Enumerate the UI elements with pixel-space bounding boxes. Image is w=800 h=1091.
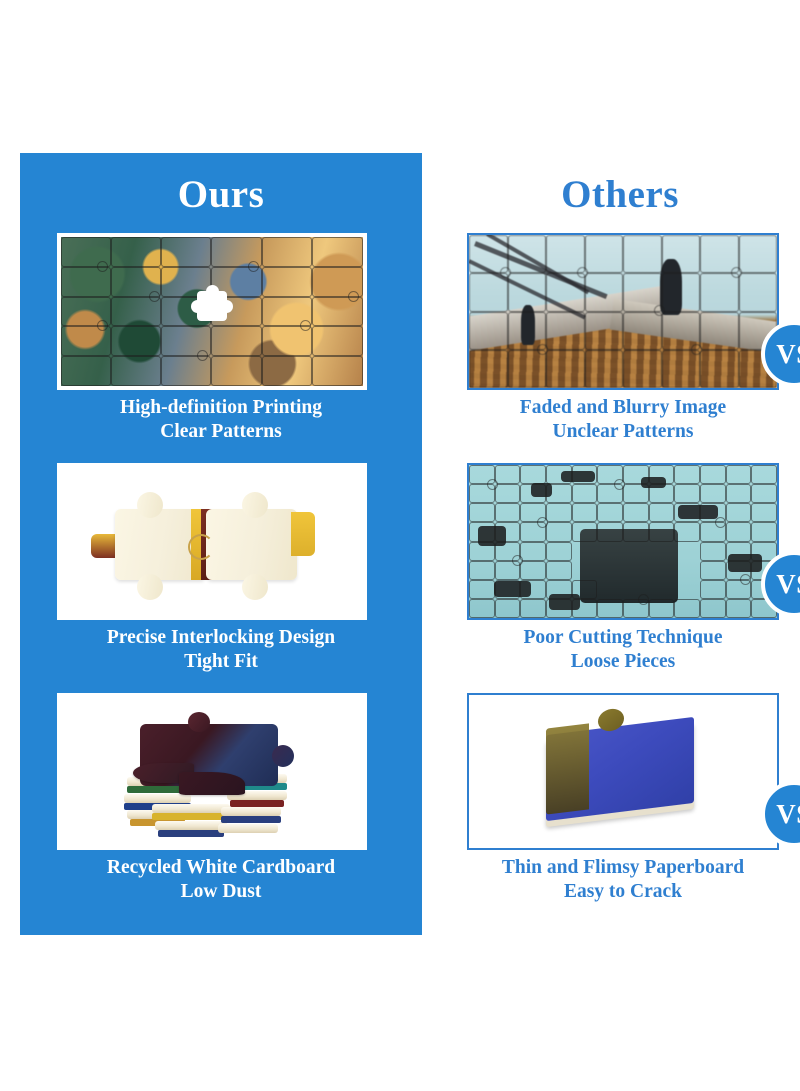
faded-puzzle-artwork: [469, 235, 777, 388]
interlock-hook: [188, 534, 214, 560]
caption-line: Precise Interlocking Design: [20, 626, 422, 650]
vs-panel-fill: [377, 271, 422, 351]
others-header: Others: [455, 172, 785, 217]
vs-panel-fill: [377, 501, 422, 581]
jigsaw-grid-overlay: [469, 235, 777, 388]
caption-line: Faded and Blurry Image: [455, 396, 791, 420]
others-caption-2: Poor Cutting Technique Loose Pieces: [455, 626, 791, 674]
top-piece-knob: [188, 712, 210, 732]
caption-line: Unclear Patterns: [455, 420, 791, 444]
ours-caption-2: Precise Interlocking Design Tight Fit: [20, 626, 422, 674]
caption-line: Recycled White Cardboard: [20, 856, 422, 880]
ours-image-3: [57, 693, 367, 850]
piece-left-tab: [91, 534, 118, 558]
puzzle-piece-right: [206, 509, 297, 581]
thick-pieces-stack-artwork: [61, 697, 363, 846]
loose-pieces-artwork: [469, 465, 777, 618]
ours-caption-3: Recycled White Cardboard Low Dust: [20, 856, 422, 904]
ours-image-2: [57, 463, 367, 620]
comparison-row-1: VS High-defin: [0, 228, 800, 458]
piece-knob-bottom-left: [137, 574, 163, 600]
others-image-3: [467, 693, 779, 850]
vs-badge-2: VS: [377, 501, 457, 581]
ours-caption-1: High-definition Printing Clear Patterns: [20, 396, 422, 444]
piece-knob-top-left: [137, 492, 163, 518]
jigsaw-grid-overlay: [469, 465, 777, 618]
caption-line: Tight Fit: [20, 650, 422, 674]
others-caption-3: Thin and Flimsy Paperboard Easy to Crack: [455, 856, 791, 904]
interlocking-pieces-artwork: [61, 467, 363, 616]
comparison-row-3: VS Recycled White Cardboard Low Dust Thi…: [0, 688, 800, 918]
vs-panel-fill: [377, 731, 422, 811]
top-piece-knob-side: [272, 745, 294, 767]
thin-piece-notch: [757, 758, 779, 787]
caption-line: Loose Pieces: [455, 650, 791, 674]
piece-gold-edge-art: [546, 723, 589, 814]
caption-line: Low Dust: [20, 880, 422, 904]
piece-knob-bottom-right: [242, 574, 268, 600]
missing-piece-knob: [206, 285, 219, 298]
others-image-2: [467, 463, 779, 620]
caption-line: High-definition Printing: [20, 396, 422, 420]
ours-header: Ours: [20, 172, 422, 217]
caption-line: Poor Cutting Technique: [455, 626, 791, 650]
vs-badge-3: VS: [377, 731, 457, 811]
others-image-1: [467, 233, 779, 390]
caption-line: Thin and Flimsy Paperboard: [455, 856, 791, 880]
comparison-row-2: VS: [0, 458, 800, 688]
caption-line: Easy to Crack: [455, 880, 791, 904]
piece-right-tab: [291, 512, 315, 557]
thin-piece-artwork: [469, 695, 777, 848]
hd-puzzle-artwork: [61, 237, 363, 386]
comparison-infographic: Ours Others VS: [0, 0, 800, 1091]
ours-image-1: [57, 233, 367, 390]
caption-line: Clear Patterns: [20, 420, 422, 444]
others-caption-1: Faded and Blurry Image Unclear Patterns: [455, 396, 791, 444]
vs-badge-1: VS: [377, 271, 457, 351]
